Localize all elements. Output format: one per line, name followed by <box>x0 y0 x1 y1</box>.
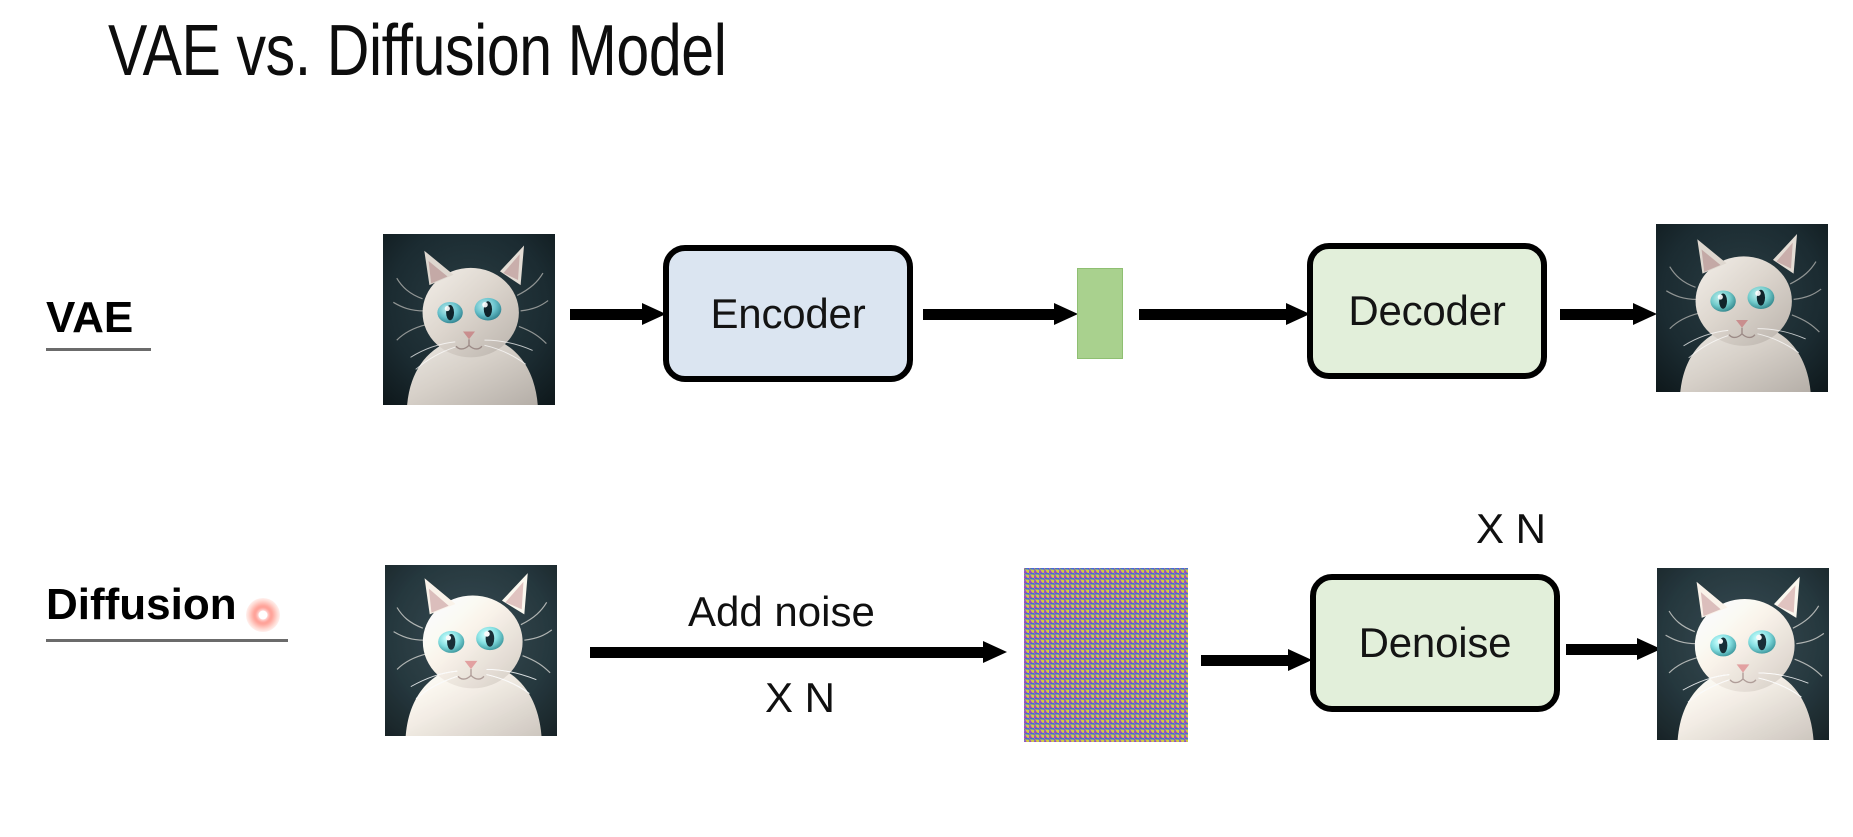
add-noise-repeat-label: X N <box>765 674 835 722</box>
arrow-head <box>1633 303 1657 325</box>
arrow-head <box>983 641 1007 663</box>
decoder-box[interactable]: Decoder <box>1307 243 1547 379</box>
vae-input-image <box>383 234 555 405</box>
arrow-shaft <box>923 309 1056 320</box>
row-label-vae-underline <box>46 348 151 351</box>
arrow-shaft <box>1139 309 1288 320</box>
cursor-glow <box>246 598 280 632</box>
row-label-diffusion-underline <box>46 639 288 642</box>
encoder-box-label: Encoder <box>710 290 865 338</box>
arrow-right-icon <box>1560 303 1658 323</box>
row-label-vae: VAE <box>46 296 133 340</box>
slide-canvas: VAE vs. Diffusion Model VAE <box>0 0 1853 837</box>
arrow-head <box>1288 649 1312 671</box>
cursor-dot <box>259 611 268 620</box>
arrow-shaft <box>590 647 985 658</box>
diffusion-output-image <box>1657 568 1829 740</box>
cursor-click-indicator <box>246 598 280 632</box>
arrow-right-icon <box>570 303 666 323</box>
denoise-box-label: Denoise <box>1359 619 1512 667</box>
arrow-shaft <box>1560 309 1635 320</box>
denoise-box[interactable]: Denoise <box>1310 574 1560 712</box>
page-title: VAE vs. Diffusion Model <box>108 12 726 91</box>
latent-vector-bar <box>1077 268 1123 359</box>
arrow-right-icon <box>1139 303 1311 323</box>
arrow-head <box>1054 303 1078 325</box>
row-label-vae-text: VAE <box>46 293 133 342</box>
add-noise-label: Add noise <box>688 588 875 636</box>
row-label-diffusion-text: Diffusion <box>46 580 237 629</box>
arrow-shaft <box>1201 655 1290 666</box>
arrow-shaft <box>1566 644 1639 655</box>
denoise-repeat-label: X N <box>1476 505 1546 553</box>
arrow-right-icon <box>1566 638 1662 658</box>
vae-output-image <box>1656 224 1828 392</box>
arrow-shaft <box>570 309 644 320</box>
noise-image <box>1024 568 1188 742</box>
arrow-right-icon <box>1201 649 1313 669</box>
encoder-box[interactable]: Encoder <box>663 245 913 382</box>
row-label-diffusion: Diffusion <box>46 583 237 627</box>
diffusion-input-image <box>385 565 557 736</box>
arrow-right-icon <box>923 303 1079 323</box>
arrow-right-icon <box>590 641 1008 661</box>
decoder-box-label: Decoder <box>1348 287 1505 335</box>
